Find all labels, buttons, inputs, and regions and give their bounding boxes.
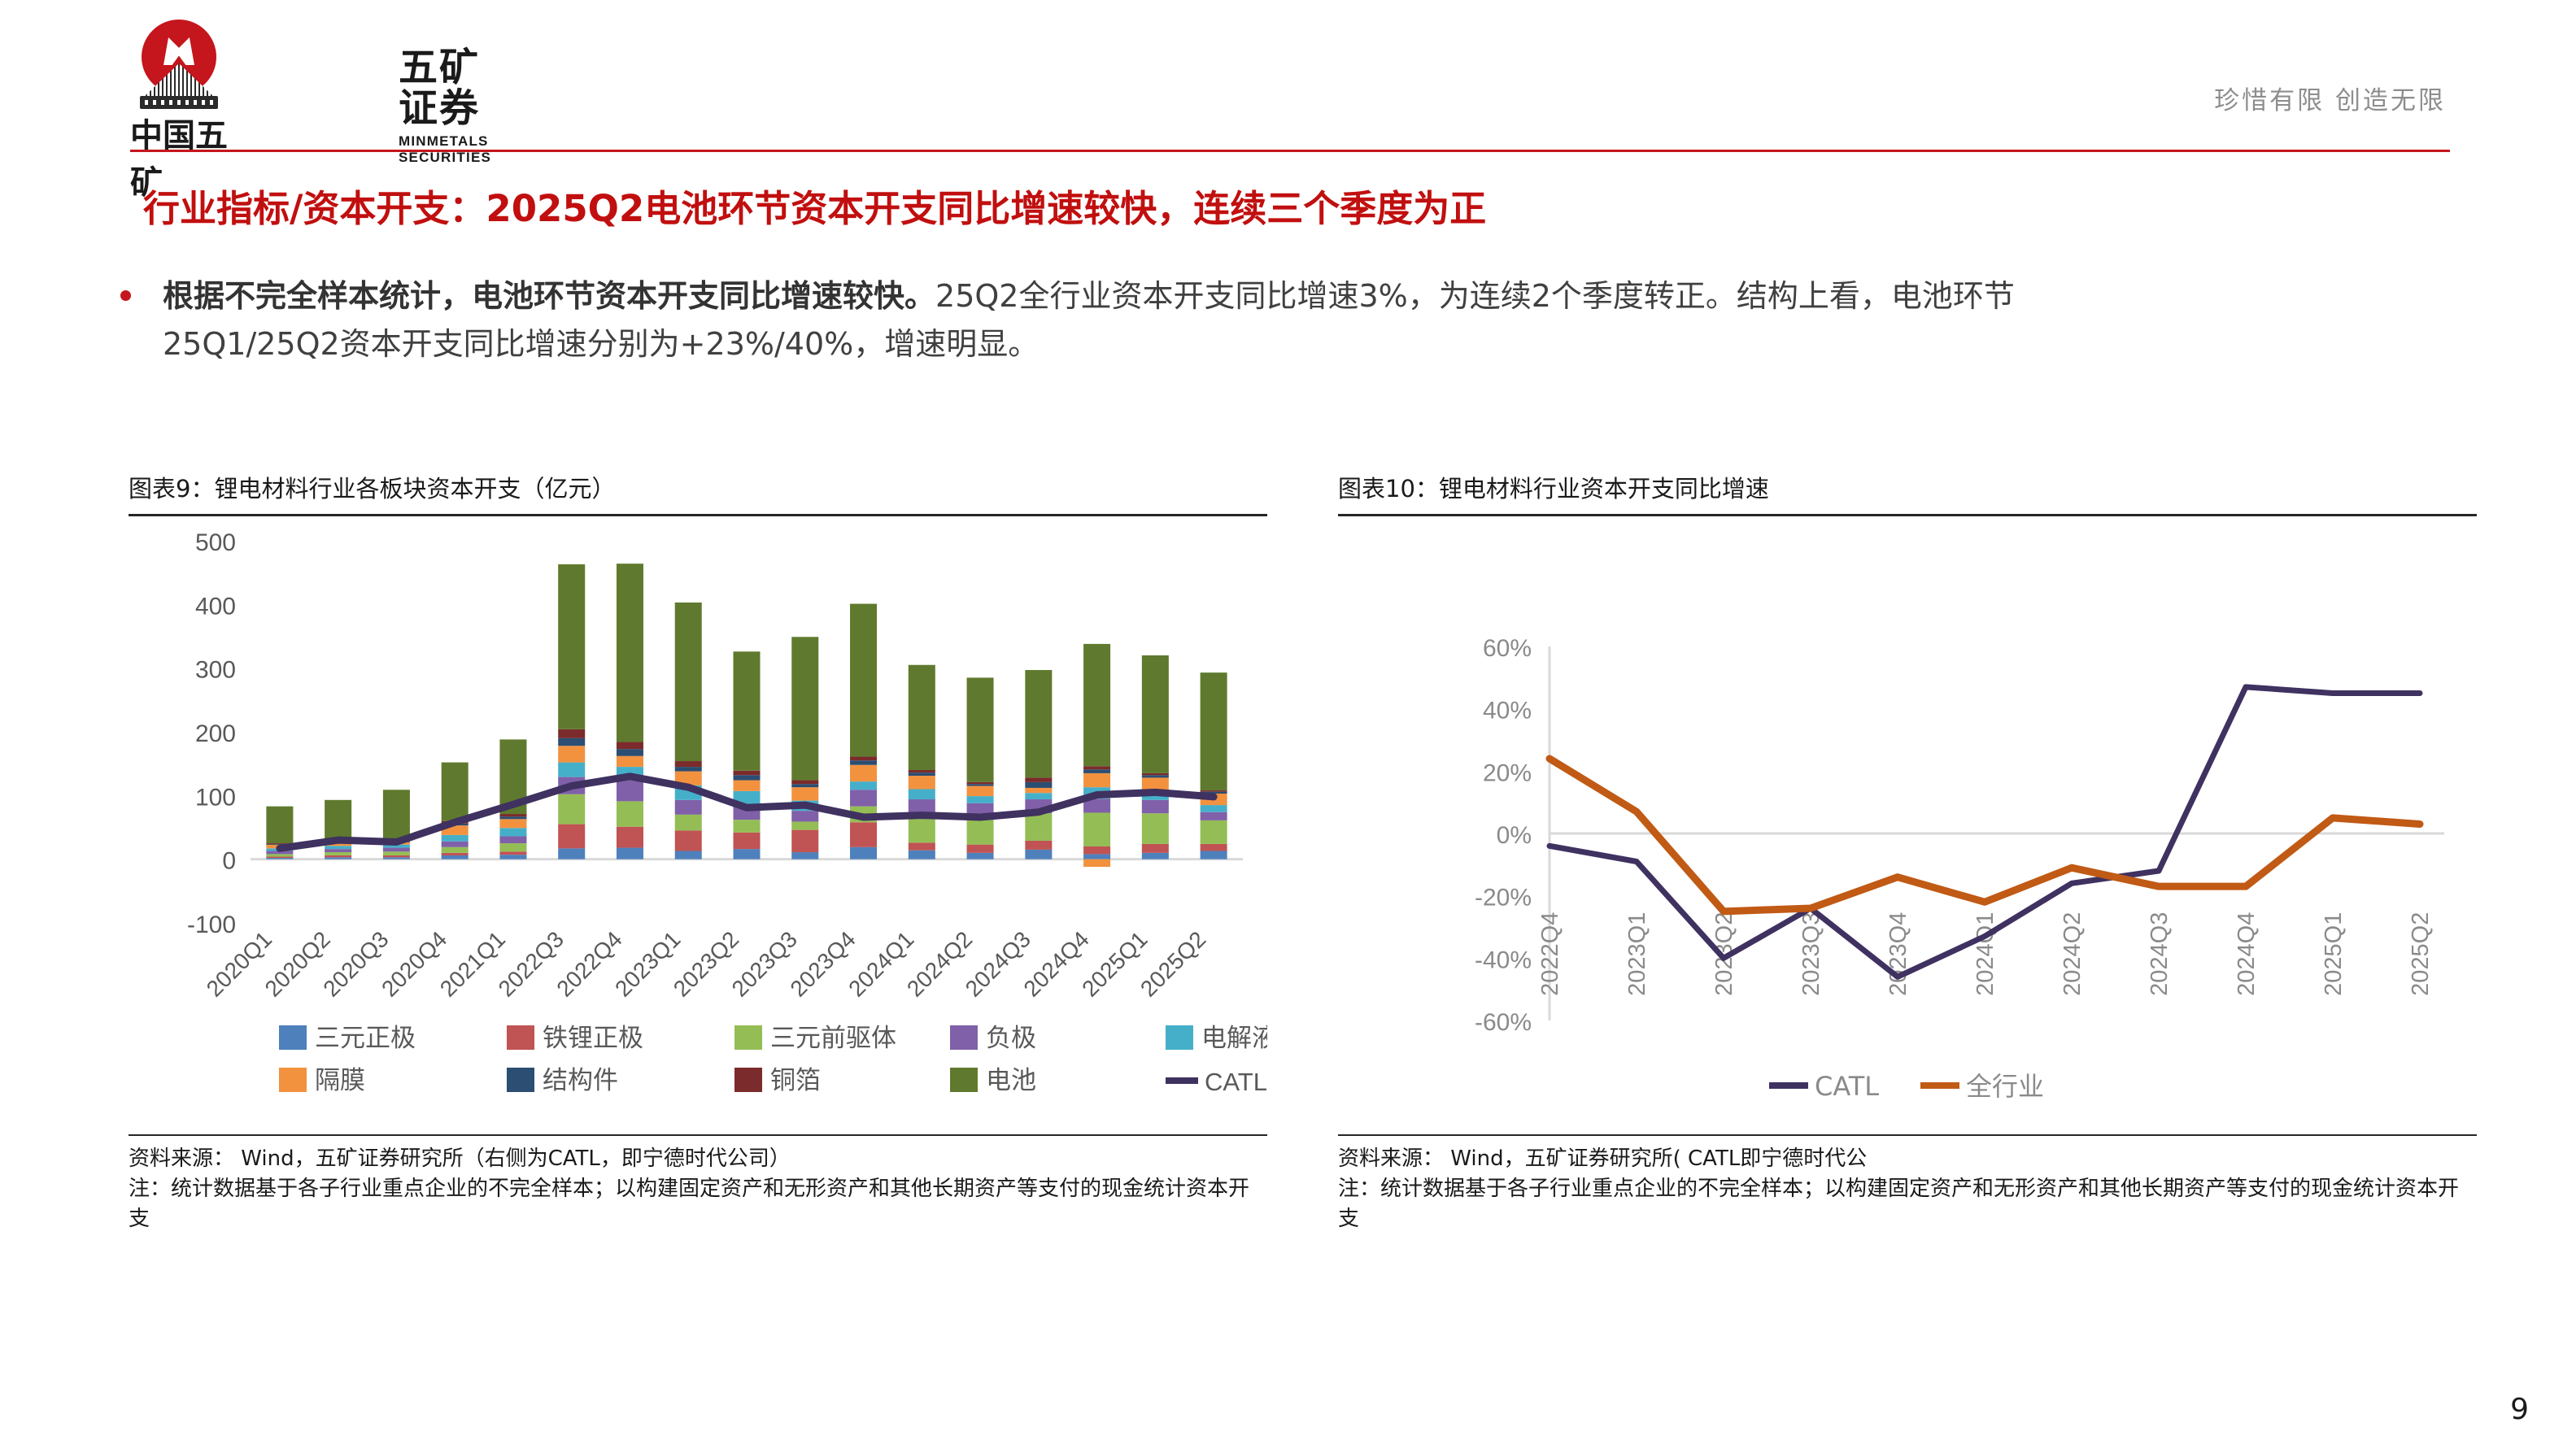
bar-segment xyxy=(909,851,935,859)
bar-segment xyxy=(383,851,410,855)
bar-segment xyxy=(325,855,351,857)
legend-label: 电解液 xyxy=(1201,1024,1267,1053)
figure-10-source-line: 资料来源： Wind，五矿证券研究所( CATL即宁德时代公 xyxy=(1338,1144,2477,1174)
x-tick-label: 2025Q1 xyxy=(2321,912,2347,996)
x-tick-label: 2022Q4 xyxy=(1537,912,1563,996)
y-tick-label: 60% xyxy=(1483,635,1532,662)
bar-segment xyxy=(791,787,818,800)
legend-label: 负极 xyxy=(986,1024,1036,1053)
bar-segment xyxy=(850,760,877,764)
brand-text-block: 五矿证券 MINMETALS SECURITIES xyxy=(399,47,491,166)
bar-segment xyxy=(850,604,877,757)
bar-segment xyxy=(733,771,760,775)
bar-segment xyxy=(850,781,877,790)
bar-segment xyxy=(1025,782,1052,788)
bar-segment xyxy=(617,749,643,756)
bar-segment-negative xyxy=(1083,859,1110,867)
bar-segment xyxy=(1025,793,1052,799)
bar-segment xyxy=(967,796,994,803)
bar-segment xyxy=(1025,777,1052,781)
bar-segment xyxy=(617,742,643,750)
bar-segment xyxy=(967,845,994,853)
bar-segment xyxy=(325,846,351,849)
figure-9-chart: -10001002003004005002020Q12020Q22020Q320… xyxy=(129,516,1267,1134)
figure-10-title: 图表10：锂电材料行业资本开支同比增速 xyxy=(1338,470,2477,514)
bar-segment xyxy=(442,842,469,847)
bullet-block: 根据不完全样本统计，电池环节资本开支同比增速较快。25Q2全行业资本开支同比增速… xyxy=(120,272,2504,368)
legend-label: 铁锂正极 xyxy=(543,1024,643,1053)
bar-segment xyxy=(909,776,935,789)
legend-swatch xyxy=(507,1025,534,1050)
bar-segment xyxy=(1083,812,1110,846)
bar-segment xyxy=(266,807,293,843)
x-tick-label: 2024Q1 xyxy=(1972,912,1998,996)
bar-segment xyxy=(733,820,760,833)
header-divider xyxy=(130,150,2450,152)
bar-segment xyxy=(791,852,818,859)
bar-segment xyxy=(558,564,585,729)
legend-label: 电池 xyxy=(986,1066,1036,1095)
y-tick-label: 0% xyxy=(1497,822,1532,849)
bar-segment xyxy=(1025,670,1052,777)
y-tick-label: -60% xyxy=(1475,1009,1532,1036)
bar-segment xyxy=(442,855,469,859)
slide: 中国五矿 五矿证券 MINMETALS SECURITIES 珍惜有限 创造无限… xyxy=(0,0,2576,1449)
logo-base-shape xyxy=(140,96,218,109)
bar-segment xyxy=(499,814,526,816)
page-title: 行业指标/资本开支：2025Q2电池环节资本开支同比增速较快，连续三个季度为正 xyxy=(143,179,2502,232)
bar-segment xyxy=(383,790,410,840)
legend-label: 隔膜 xyxy=(315,1066,365,1095)
bar-segment xyxy=(383,848,410,852)
bar-segment xyxy=(558,763,585,777)
legend-swatch xyxy=(507,1068,534,1092)
bar-segment xyxy=(1025,813,1052,841)
bar-segment xyxy=(499,816,526,819)
x-tick-label: 2024Q4 xyxy=(2234,912,2260,996)
figure-9-title: 图表9：锂电材料行业各板块资本开支（亿元） xyxy=(129,470,1267,514)
bar-segment xyxy=(909,816,935,843)
bar-segment xyxy=(617,848,643,859)
bar-segment xyxy=(1201,820,1227,844)
y-tick-label: 200 xyxy=(195,720,236,747)
bar-segment xyxy=(1201,844,1227,851)
bar-segment xyxy=(850,765,877,781)
x-tick-label: 2025Q2 xyxy=(2408,912,2434,996)
y-tick-label: -40% xyxy=(1475,946,1532,973)
bar-segment xyxy=(909,842,935,850)
bar-segment xyxy=(1142,844,1169,853)
bar-segment xyxy=(967,853,994,859)
bar-segment xyxy=(442,835,469,842)
bar-segment xyxy=(791,637,818,780)
legend-label: 结构件 xyxy=(543,1066,618,1095)
bullet-text: 根据不完全样本统计，电池环节资本开支同比增速较快。25Q2全行业资本开支同比增速… xyxy=(163,272,2504,368)
legend-label: CATL xyxy=(1205,1068,1267,1096)
bar-segment xyxy=(909,772,935,776)
bar-segment xyxy=(383,857,410,859)
bar-segment xyxy=(1201,851,1227,859)
legend-swatch xyxy=(279,1068,307,1092)
bar-segment xyxy=(558,794,585,825)
bar-segment xyxy=(499,855,526,859)
bar-segment xyxy=(1083,644,1110,766)
bar-segment xyxy=(967,786,994,797)
bar-segment xyxy=(967,677,994,781)
bar-segment xyxy=(733,849,760,859)
header-slogan: 珍惜有限 创造无限 xyxy=(2214,80,2446,116)
page-number: 9 xyxy=(2510,1393,2529,1426)
bullet-line1-bold: 根据不完全样本统计，电池环节资本开支同比增速较快。 xyxy=(163,278,935,314)
legend-swatch xyxy=(734,1068,762,1092)
bar-segment xyxy=(1142,813,1169,844)
y-tick-label: 400 xyxy=(195,593,236,620)
bar-segment xyxy=(967,819,994,844)
bar-segment xyxy=(791,784,818,787)
figure-9-source: 资料来源： Wind，五矿证券研究所（右侧为CATL，即宁德时代公司） 注：统计… xyxy=(129,1136,1267,1234)
y-tick-label: 500 xyxy=(195,529,236,556)
legend-swatch xyxy=(950,1025,978,1050)
bar-segment xyxy=(791,781,818,785)
bar-segment xyxy=(266,858,293,859)
line-series-catl xyxy=(1550,687,2420,977)
figure-9-note-line: 注：统计数据基于各子行业重点企业的不完全样本；以构建固定资产和无形资产和其他长期… xyxy=(129,1174,1267,1234)
brand-name-cn: 五矿证券 xyxy=(399,47,491,129)
legend-label: 铜箔 xyxy=(770,1066,821,1095)
bar-segment xyxy=(791,821,818,829)
bar-segment xyxy=(1025,841,1052,850)
bar-segment xyxy=(325,849,351,852)
figure-9-source-line: 资料来源： Wind，五矿证券研究所（右侧为CATL，即宁德时代公司） xyxy=(129,1144,1267,1174)
figure-9-svg: -10001002003004005002020Q12020Q22020Q320… xyxy=(129,516,1267,1134)
bar-segment xyxy=(1025,850,1052,859)
bar-segment xyxy=(1201,812,1227,820)
y-tick-label: 300 xyxy=(195,657,236,684)
bullet-line1-rest: 25Q2全行业资本开支同比增速3%，为连续2个季度转正。结构上看，电池环节 xyxy=(935,278,2015,314)
bar-segment xyxy=(1201,672,1227,790)
x-tick-label: 2023Q1 xyxy=(1624,912,1650,996)
bar-segment xyxy=(558,738,585,746)
legend-swatch xyxy=(734,1025,762,1050)
bar-segment xyxy=(1083,854,1110,859)
bar-segment xyxy=(850,757,877,761)
bar-segment xyxy=(675,830,702,851)
bar-segment xyxy=(499,851,526,855)
bar-segment xyxy=(733,775,760,780)
figure-10-panel: 图表10：锂电材料行业资本开支同比增速 -60%-40%-20%0%20%40%… xyxy=(1338,470,2477,1308)
bar-segment xyxy=(967,782,994,784)
bar-segment xyxy=(909,665,935,770)
bar-segment xyxy=(1083,773,1110,787)
bar-segment xyxy=(850,822,877,847)
bar-segment xyxy=(1142,773,1169,775)
legend-swatch xyxy=(1166,1025,1193,1050)
x-tick-label: 2025Q2 xyxy=(1135,926,1210,1001)
minmetals-logo-icon: 中国五矿 xyxy=(130,18,228,140)
bar-segment xyxy=(617,827,643,848)
bar-segment xyxy=(558,746,585,762)
bar-segment xyxy=(558,848,585,859)
bar-segment xyxy=(733,833,760,849)
x-tick-label: 2024Q3 xyxy=(2147,912,2173,996)
bar-segment xyxy=(967,784,994,785)
bullet-line2: 25Q1/25Q2资本开支同比增速分别为+23%/40%，增速明显。 xyxy=(163,326,1039,362)
bar-segment xyxy=(499,828,526,836)
bar-segment xyxy=(266,857,293,859)
bar-segment xyxy=(1083,846,1110,854)
bar-segment xyxy=(499,819,526,828)
bar-segment xyxy=(675,603,702,761)
x-tick-label: 2023Q3 xyxy=(1798,912,1824,996)
bar-segment xyxy=(1201,790,1227,792)
bar-segment xyxy=(499,843,526,851)
bar-segment xyxy=(909,790,935,800)
bar-segment xyxy=(675,800,702,815)
bar-segment xyxy=(1142,655,1169,773)
legend-label: CATL xyxy=(1815,1071,1879,1102)
bar-segment xyxy=(442,847,469,853)
legend-swatch xyxy=(950,1068,978,1092)
line-series-industry xyxy=(1550,759,2420,912)
legend-label: 三元正极 xyxy=(315,1024,416,1053)
bar-segment xyxy=(1025,788,1052,793)
figure-10-note-line: 注：统计数据基于各子行业重点企业的不完全样本；以构建固定资产和无形资产和其他长期… xyxy=(1338,1174,2477,1234)
figure-10-source: 资料来源： Wind，五矿证券研究所( CATL即宁德时代公 注：统计数据基于各… xyxy=(1338,1136,2477,1234)
bar-segment xyxy=(383,855,410,857)
x-tick-label: 2023Q4 xyxy=(1885,912,1911,996)
bar-segment xyxy=(266,854,293,856)
y-tick-label: 20% xyxy=(1483,759,1532,786)
company-logo: 中国五矿 五矿证券 MINMETALS SECURITIES xyxy=(130,18,228,140)
bar-segment xyxy=(733,781,760,791)
bar-segment xyxy=(442,763,469,821)
x-tick-label: 2024Q2 xyxy=(2059,912,2086,996)
bar-segment xyxy=(325,800,351,842)
legend-label: 三元前驱体 xyxy=(770,1024,896,1053)
bar-segment xyxy=(325,857,351,859)
bar-segment xyxy=(442,853,469,855)
bar-segment xyxy=(909,770,935,772)
bar-segment xyxy=(675,851,702,859)
bar-segment xyxy=(617,781,643,802)
bar-segment xyxy=(675,767,702,771)
bar-segment xyxy=(617,801,643,826)
figure-9-panel: 图表9：锂电材料行业各板块资本开支（亿元） -10001002003004005… xyxy=(129,470,1267,1308)
bar-segment xyxy=(617,563,643,742)
bar-segment xyxy=(558,729,585,738)
bar-segment xyxy=(1142,853,1169,859)
figure-10-svg: -60%-40%-20%0%20%40%60%2022Q42023Q12023Q… xyxy=(1338,516,2477,1134)
y-tick-label: -20% xyxy=(1475,885,1532,912)
bar-segment xyxy=(1201,805,1227,812)
bar-segment xyxy=(850,790,877,806)
bar-segment xyxy=(791,830,818,852)
legend-label: 全行业 xyxy=(1966,1071,2044,1102)
bar-segment xyxy=(1083,769,1110,773)
bullet-dot-icon xyxy=(120,290,131,301)
y-tick-label: -100 xyxy=(187,912,236,938)
slide-header: 中国五矿 五矿证券 MINMETALS SECURITIES 珍惜有限 创造无限 xyxy=(0,0,2576,154)
bar-segment xyxy=(1142,800,1169,813)
bar-segment xyxy=(1083,766,1110,769)
figure-10-chart: -60%-40%-20%0%20%40%60%2022Q42023Q12023Q… xyxy=(1338,516,2477,1134)
bar-segment xyxy=(499,836,526,843)
bar-segment xyxy=(558,825,585,849)
y-tick-label: 100 xyxy=(195,784,236,811)
y-tick-label: 40% xyxy=(1483,698,1532,724)
legend-swatch xyxy=(279,1025,307,1050)
y-tick-label: 0 xyxy=(222,848,236,875)
bar-segment xyxy=(733,651,760,770)
bar-segment xyxy=(675,761,702,767)
bar-segment xyxy=(675,815,702,831)
bar-segment xyxy=(850,847,877,859)
bar-segment xyxy=(791,811,818,821)
bar-segment xyxy=(617,756,643,767)
bar-segment xyxy=(1142,775,1169,777)
bar-segment xyxy=(325,852,351,855)
